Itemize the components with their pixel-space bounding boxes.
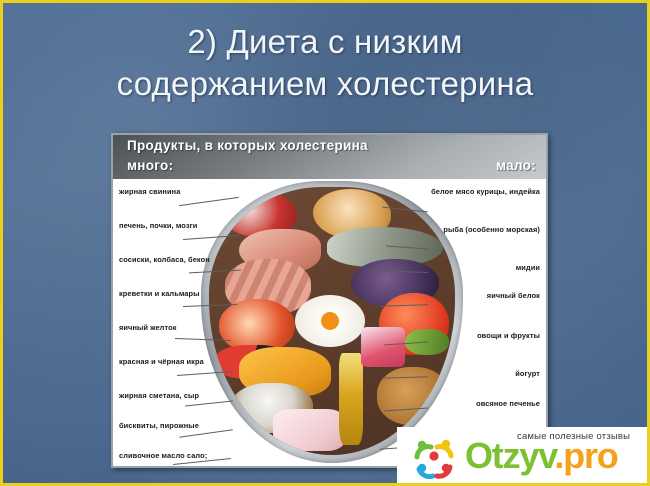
plate-surface	[209, 187, 455, 455]
label-fish: рыба (особенно морская)	[420, 225, 540, 235]
slide-title-line-1: 2) Диета с низким	[3, 21, 647, 63]
food-butter-lard	[273, 409, 345, 451]
food-yogurt	[361, 327, 405, 367]
site-watermark[interactable]: самые полезные отзывы Otzyv.pro	[397, 427, 647, 483]
watermark-wordmark[interactable]: Otzyv.pro	[465, 438, 618, 474]
label-biscuits: бисквиты, пирожные	[119, 421, 239, 431]
people-group-icon	[407, 435, 461, 479]
low-cholesterol-label-column: белое мясо курицы, индейка рыба (особенн…	[420, 179, 540, 468]
label-pork: жирная свинина	[119, 187, 239, 197]
poster-body: жирная свинина печень, почки, мозги соси…	[113, 179, 546, 468]
label-oat-cookies: овсяное печенье	[420, 399, 540, 409]
label-offal: печень, почки, мозги	[119, 221, 239, 231]
label-egg-yolk: яичный желток	[119, 323, 239, 333]
poster-heading-high: много:	[127, 158, 173, 173]
food-egg-yolk	[295, 295, 365, 347]
watermark-name: Otzyv	[465, 435, 554, 476]
presentation-slide: 2) Диета с низким содержанием холестерин…	[0, 0, 650, 486]
label-shrimp: креветки и кальмары	[119, 289, 239, 299]
label-yogurt: йогурт	[420, 369, 540, 379]
label-vegetables-fruit: овощи и фрукты	[420, 331, 540, 341]
slide-title: 2) Диета с низким содержанием холестерин…	[3, 21, 647, 105]
label-caviar: красная и чёрная икра	[119, 357, 239, 367]
label-sausage: сосиски, колбаса, бекон	[119, 255, 239, 265]
slide-title-line-2: содержанием холестерина	[3, 63, 647, 105]
high-cholesterol-label-column: жирная свинина печень, почки, мозги соси…	[119, 179, 239, 468]
food-vegetable-oil-bottle	[339, 353, 363, 445]
label-egg-white: яичный белок	[420, 291, 540, 301]
poster-heading-low: мало:	[496, 158, 536, 173]
label-white-meat: белое мясо курицы, индейка	[420, 187, 540, 197]
label-sour-cream-cheese: жирная сметана, сыр	[119, 391, 239, 401]
label-mussels: мидии	[420, 263, 540, 273]
poster-header: Продукты, в которых холестерина много: м…	[113, 135, 546, 179]
poster-heading: Продукты, в которых холестерина	[127, 138, 538, 153]
cholesterol-poster: Продукты, в которых холестерина много: м…	[111, 133, 548, 468]
watermark-tld: .pro	[554, 435, 617, 476]
